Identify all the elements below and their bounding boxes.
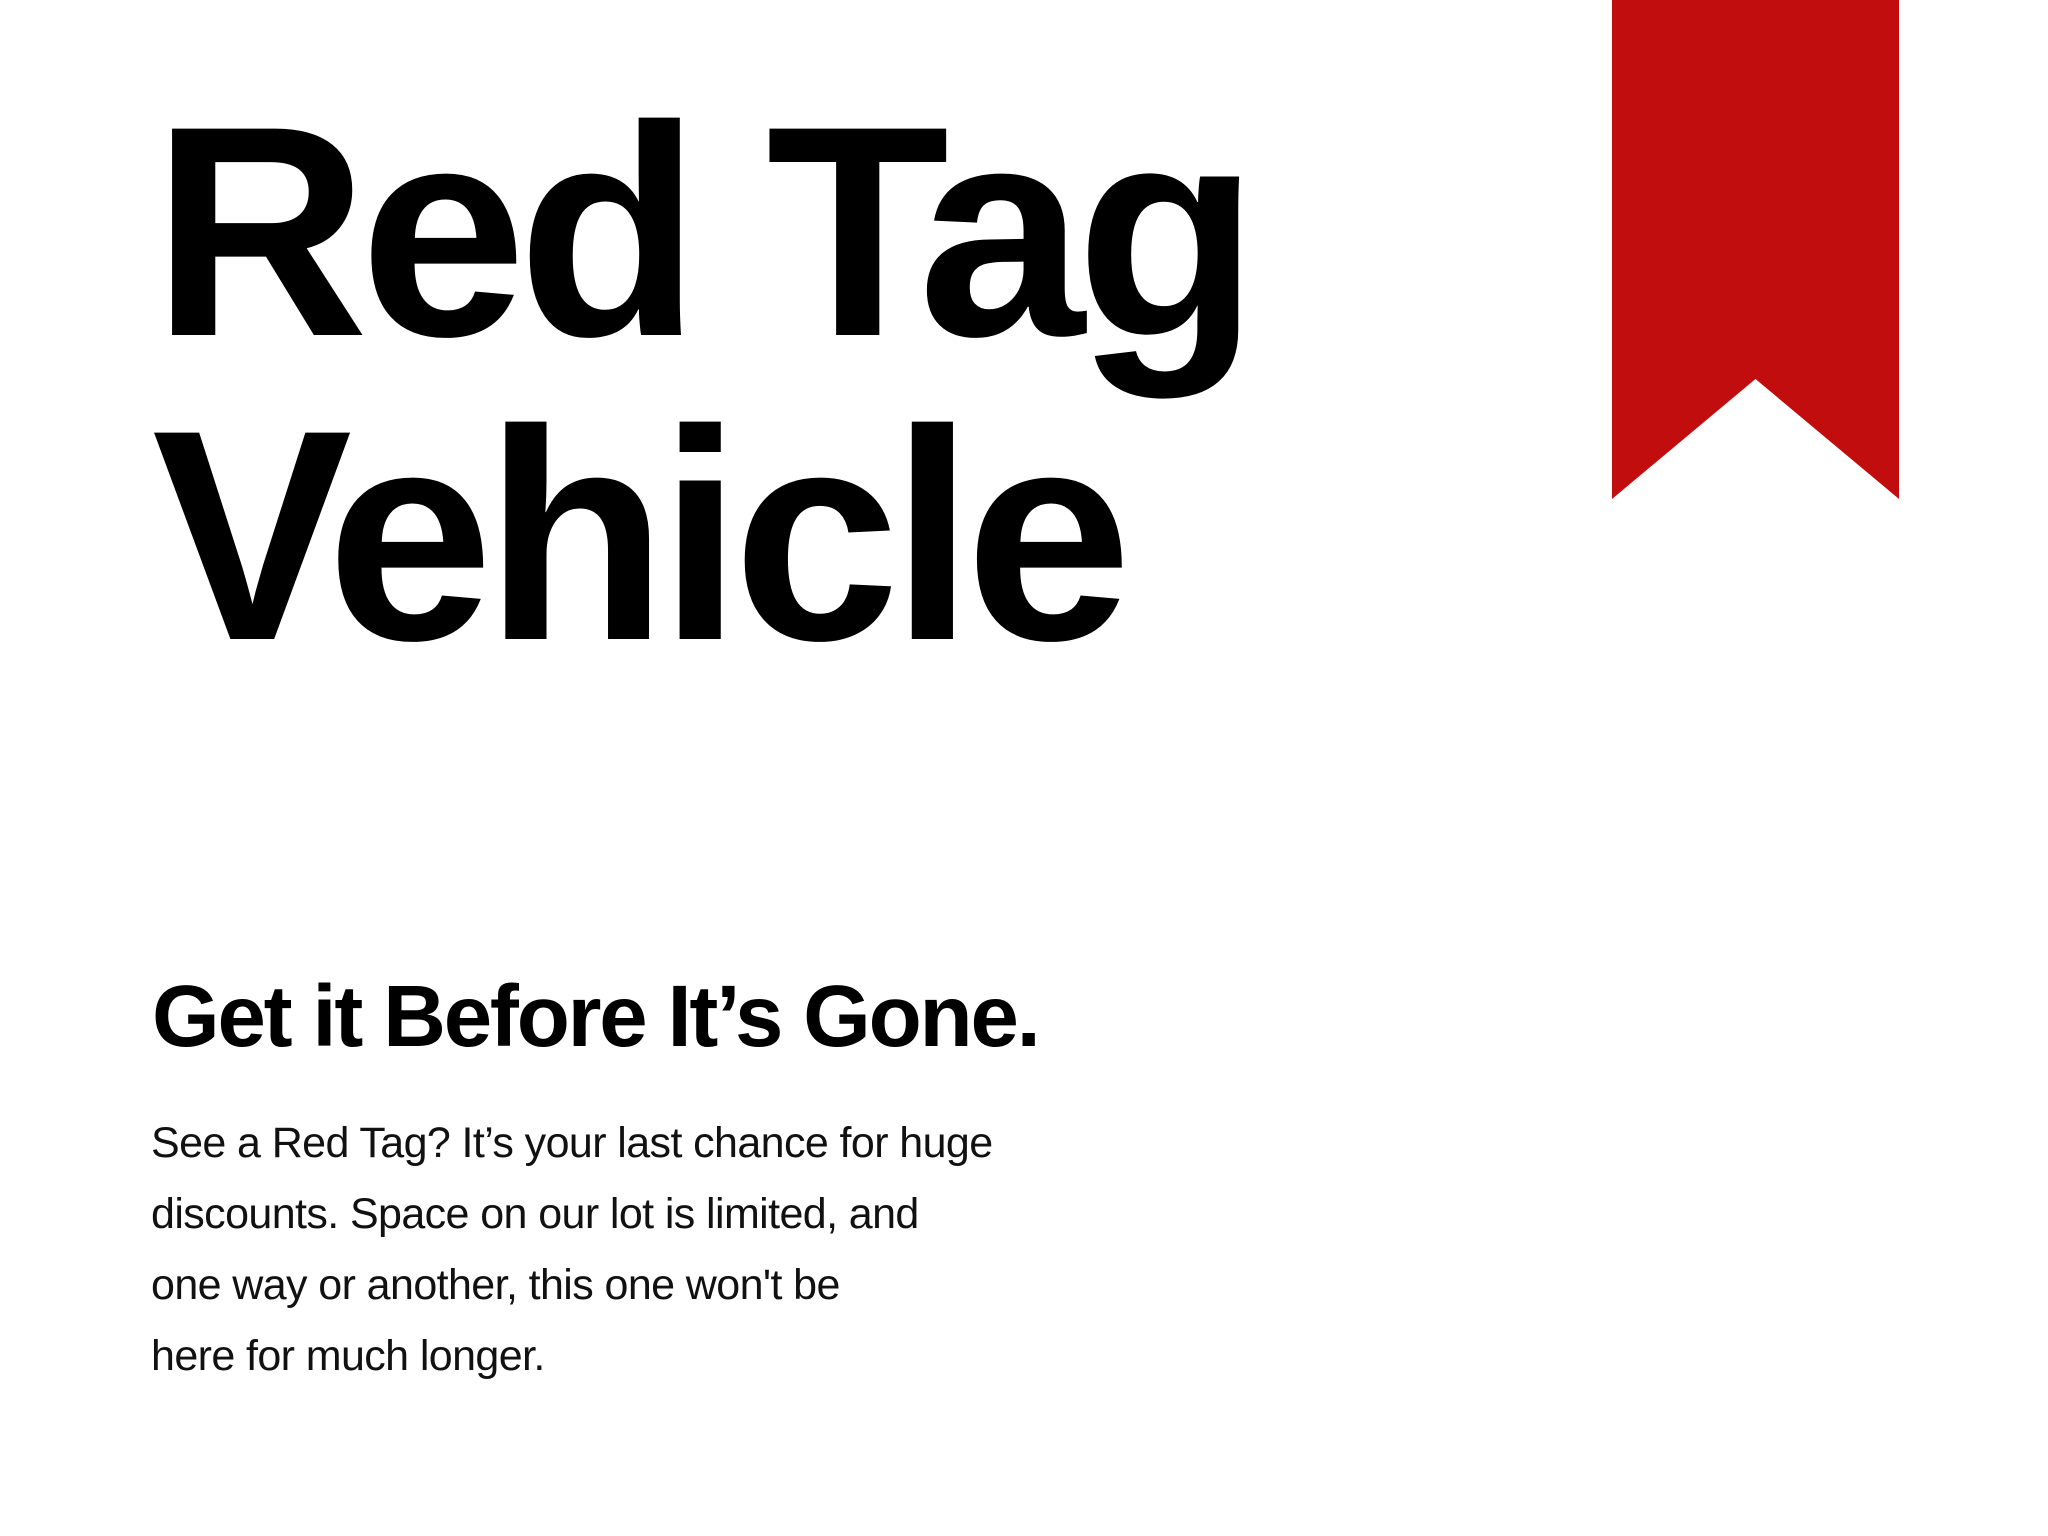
red-ribbon-banner xyxy=(1612,0,1899,499)
body-line-1: See a Red Tag? It’s your last chance for… xyxy=(151,1108,1251,1179)
headline-line-2: Vehicle xyxy=(152,383,1250,687)
body-line-3: one way or another, this one won't be xyxy=(151,1250,1251,1321)
page-title: Red Tag Vehicle xyxy=(152,79,1250,687)
body-line-4: here for much longer. xyxy=(151,1321,1251,1392)
bookmark-ribbon-icon xyxy=(1612,0,1899,499)
subheadline: Get it Before It’s Gone. xyxy=(152,969,1039,1065)
red-tag-vehicle-poster: Red Tag Vehicle Get it Before It’s Gone.… xyxy=(0,0,2048,1536)
headline-line-1: Red Tag xyxy=(152,79,1250,383)
body-line-2: discounts. Space on our lot is limited, … xyxy=(151,1179,1251,1250)
body-copy: See a Red Tag? It’s your last chance for… xyxy=(151,1108,1251,1392)
ribbon-shape xyxy=(1612,0,1899,499)
